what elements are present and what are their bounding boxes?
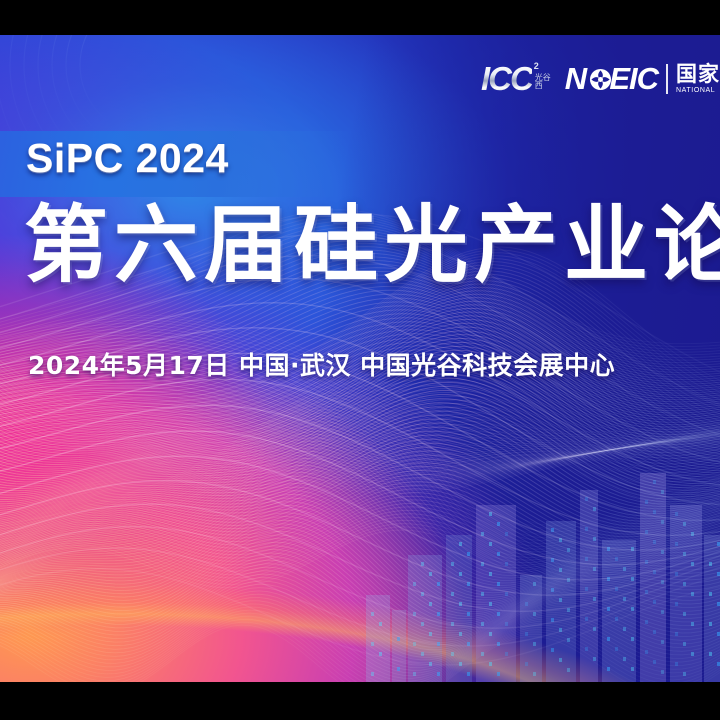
noeic-wordmark-left: N	[565, 61, 586, 96]
noeic-pinwheel-icon	[589, 68, 612, 91]
icc-superscript: 2	[534, 62, 539, 70]
icc-logo: ICC2 光谷 西	[481, 64, 551, 94]
icc-cn-line2: 西	[535, 82, 543, 90]
poster-content: SiPC 2024 第六届硅光产业论坛 2024年5月17日 中国·武汉 中国光…	[0, 35, 720, 682]
noeic-divider	[666, 64, 668, 94]
letterbox-top	[0, 0, 720, 35]
icc-wordmark-text: ICC	[481, 60, 532, 97]
event-details: 2024年5月17日 中国·武汉 中国光谷科技会展中心	[28, 346, 615, 382]
noeic-wordmark-right: EIC	[609, 61, 658, 96]
noeic-logo: NOEIC 国家 NATIONAL	[565, 63, 720, 94]
letterbox-bottom	[0, 682, 720, 720]
page-title: 第六届硅光产业论坛	[24, 201, 720, 289]
logo-strip: ICC2 光谷 西 NOEIC	[481, 63, 720, 94]
noeic-cn-big: 国家	[676, 64, 720, 85]
icc-chinese-text: 光谷 西	[535, 74, 551, 90]
noeic-cn-small: NATIONAL	[676, 87, 720, 94]
event-tag: SiPC 2024	[26, 135, 229, 182]
poster-banner: SiPC 2024 第六届硅光产业论坛 2024年5月17日 中国·武汉 中国光…	[0, 0, 720, 720]
icc-wordmark: ICC2	[481, 64, 532, 94]
noeic-chinese-block: 国家 NATIONAL	[676, 64, 720, 94]
noeic-wordmark: NOEIC	[565, 63, 658, 94]
